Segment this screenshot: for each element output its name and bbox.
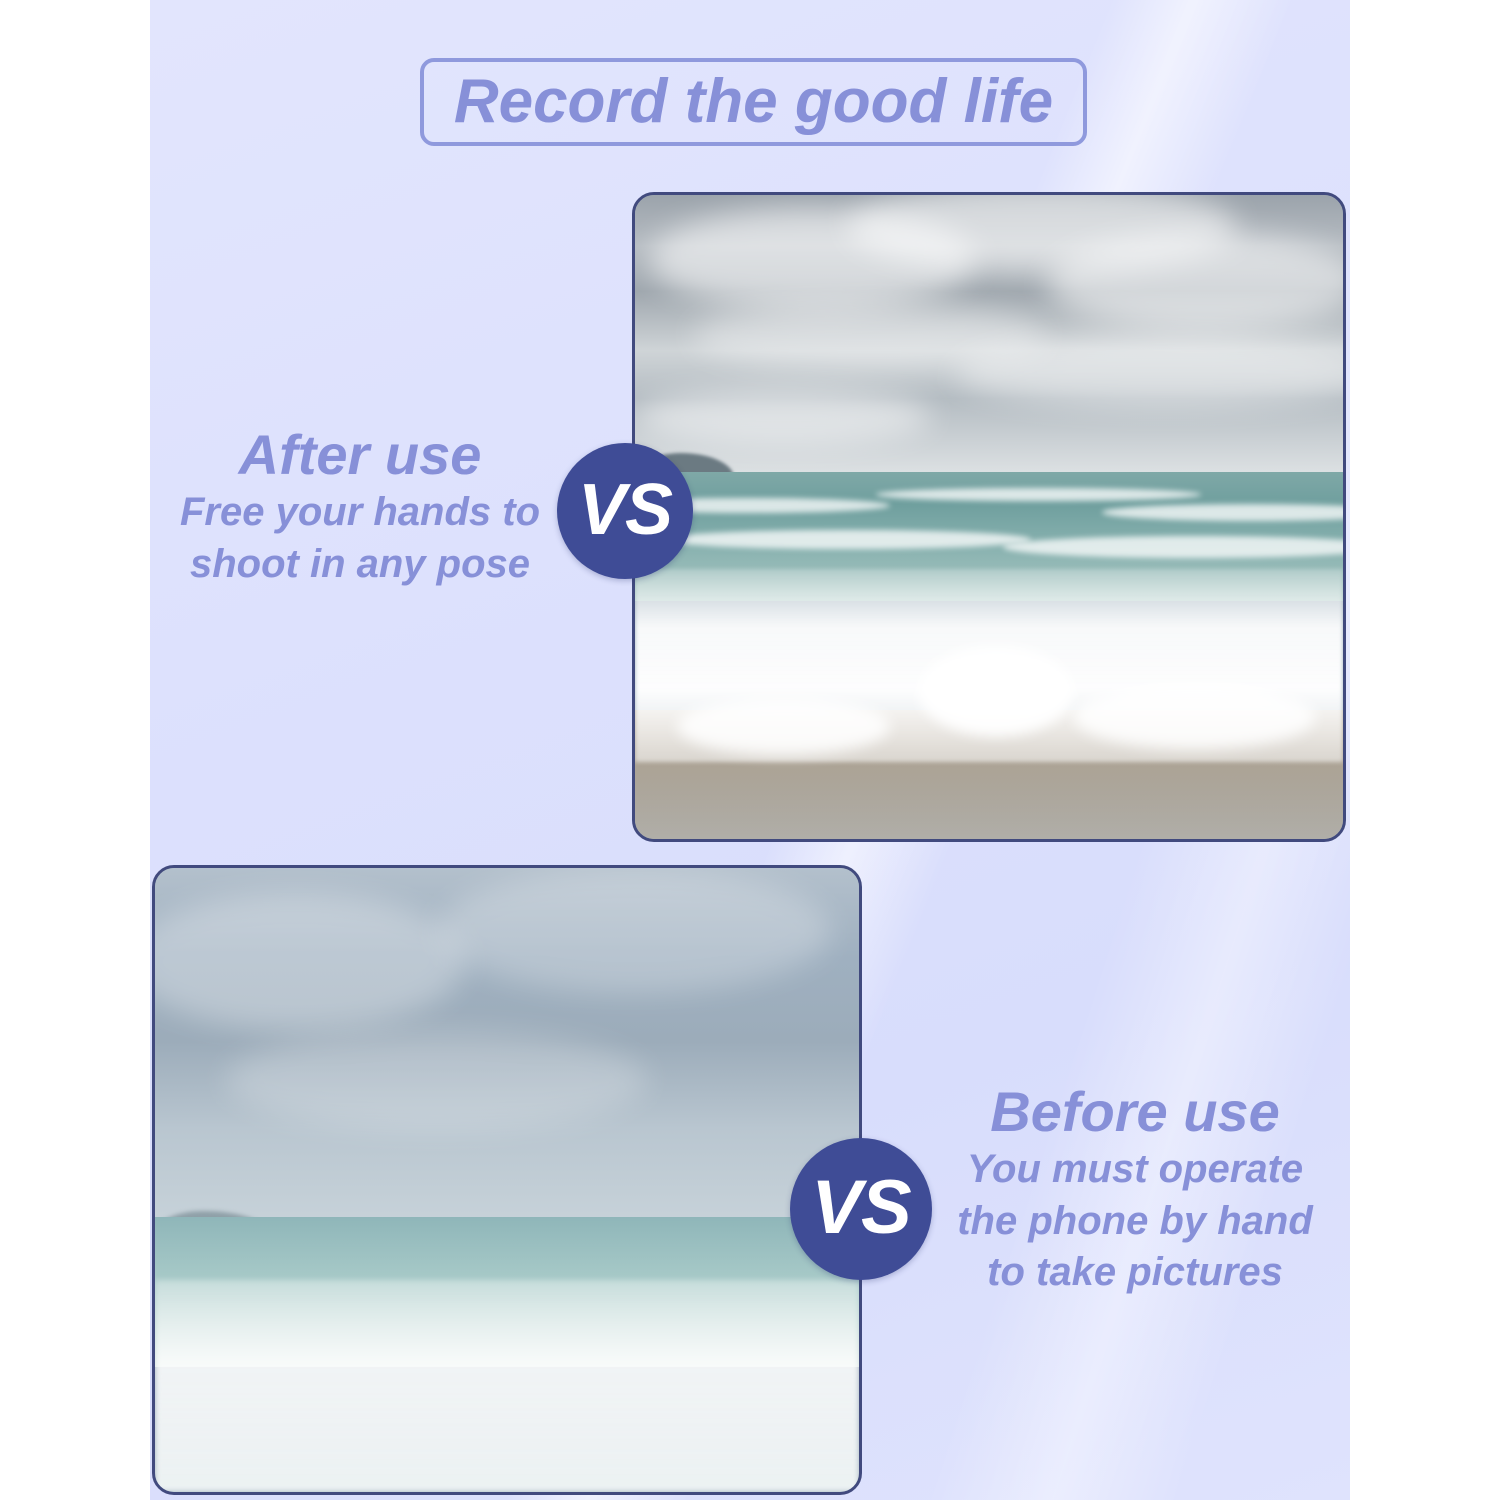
before-use-photo — [152, 865, 862, 1495]
before-use-subtitle-line-3: to take pictures — [940, 1249, 1330, 1296]
after-use-subtitle-line-2: shoot in any pose — [175, 541, 545, 588]
before-use-caption: Before use You must operate the phone by… — [940, 1082, 1330, 1296]
vs-label: VS — [578, 474, 672, 546]
cloud — [954, 337, 1346, 408]
eyeglasses-right-lens — [155, 868, 161, 874]
before-use-heading: Before use — [940, 1082, 1330, 1142]
sand-reflection — [635, 749, 1343, 839]
page-title: Record the good life — [454, 71, 1053, 133]
cloud — [1046, 234, 1346, 331]
wave-crest — [876, 488, 1202, 501]
before-use-subtitle-line-1: You must operate — [940, 1146, 1330, 1193]
water-splash — [918, 646, 1074, 736]
vs-badge-top: VS — [557, 443, 693, 579]
after-use-photo — [632, 192, 1346, 842]
title-banner: Record the good life — [420, 58, 1087, 146]
after-use-heading: After use — [175, 425, 545, 485]
left-white-margin — [0, 0, 150, 1500]
surf-foam — [155, 1280, 859, 1492]
cloud — [225, 1030, 647, 1130]
product-comparison-graphic: Record the good life — [0, 0, 1500, 1500]
cloud — [635, 388, 932, 446]
vs-badge-bottom: VS — [790, 1138, 932, 1280]
after-use-subtitle-line-1: Free your hands to — [175, 489, 545, 536]
vs-label: VS — [811, 1170, 910, 1246]
after-use-caption: After use Free your hands to shoot in an… — [175, 425, 545, 588]
right-white-margin — [1350, 0, 1500, 1500]
before-use-subtitle-line-2: the phone by hand — [940, 1198, 1330, 1245]
beach-running-scene — [635, 195, 1343, 839]
wave-crest — [663, 530, 1031, 549]
beach-selfie-scene — [155, 868, 859, 1492]
cloud — [437, 868, 831, 993]
foam-edge — [1074, 684, 1315, 748]
foam-edge — [677, 697, 889, 755]
